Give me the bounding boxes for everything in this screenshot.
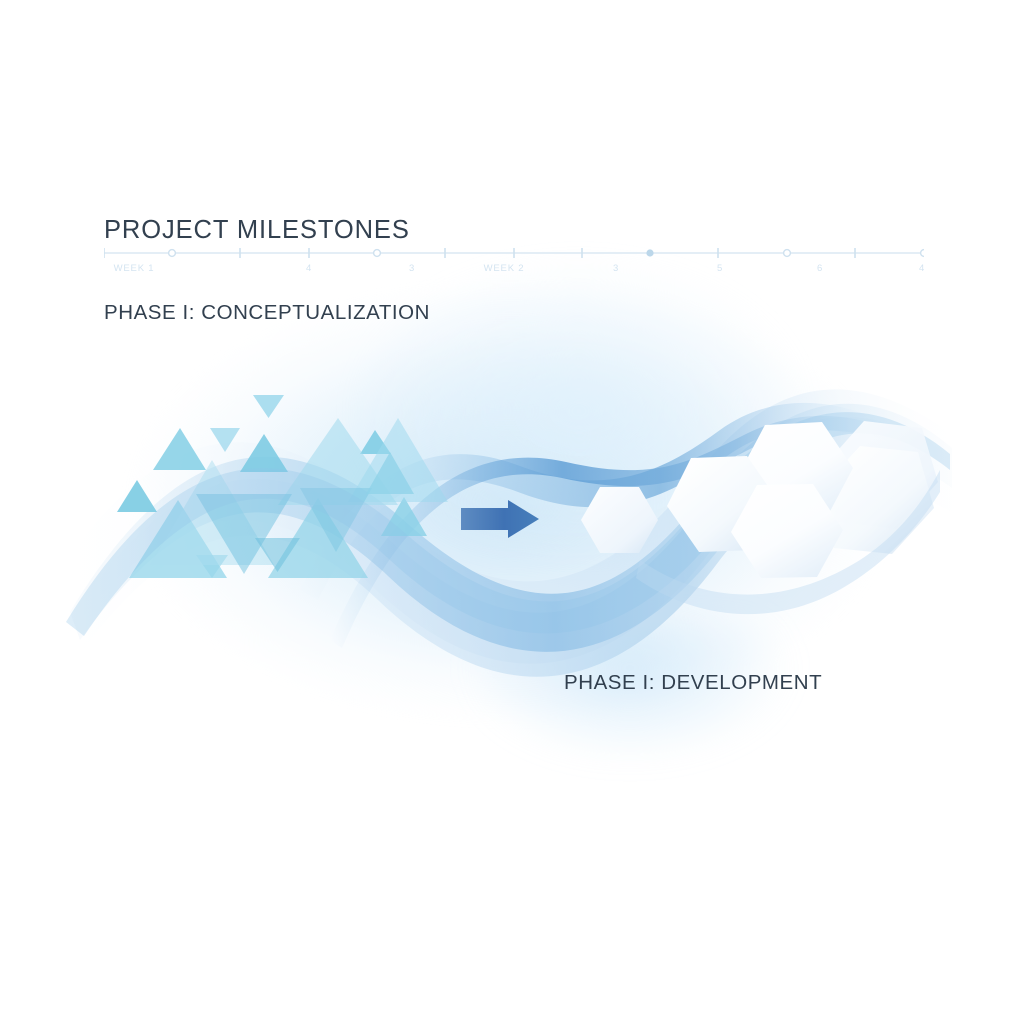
- abstract-process-illustration: [0, 0, 1024, 1024]
- phase-label-conceptualization: PHASE I: CONCEPTUALIZATION: [104, 301, 430, 325]
- page-title: PROJECT MILESTONES: [104, 216, 410, 245]
- timeline-axis: [104, 246, 924, 264]
- transition-arrow: [461, 500, 539, 538]
- timeline-label: 5: [717, 263, 723, 274]
- timeline-active-marker[interactable]: [646, 249, 653, 256]
- phase-label-development: PHASE I: DEVELOPMENT: [564, 671, 822, 695]
- timeline-milestone-marker[interactable]: [784, 250, 791, 257]
- timeline-label: WEEK 1: [114, 263, 155, 274]
- timeline-label: WEEK 2: [484, 263, 525, 274]
- timeline-label: 4: [306, 263, 312, 274]
- timeline-milestone-marker[interactable]: [169, 250, 176, 257]
- timeline-label: 3: [409, 263, 415, 274]
- timeline-label: 6: [817, 263, 823, 274]
- timeline-label: 4: [919, 263, 925, 274]
- slide-canvas: PROJECT MILESTONES PHASE I: CONCEPTUALIZ…: [0, 0, 1024, 1024]
- timeline-milestone-marker[interactable]: [921, 250, 924, 257]
- timeline[interactable]: WEEK 143WEEK 23564: [104, 246, 924, 282]
- triangle-shape: [253, 395, 284, 418]
- timeline-milestone-marker[interactable]: [374, 250, 381, 257]
- timeline-label: 3: [613, 263, 619, 274]
